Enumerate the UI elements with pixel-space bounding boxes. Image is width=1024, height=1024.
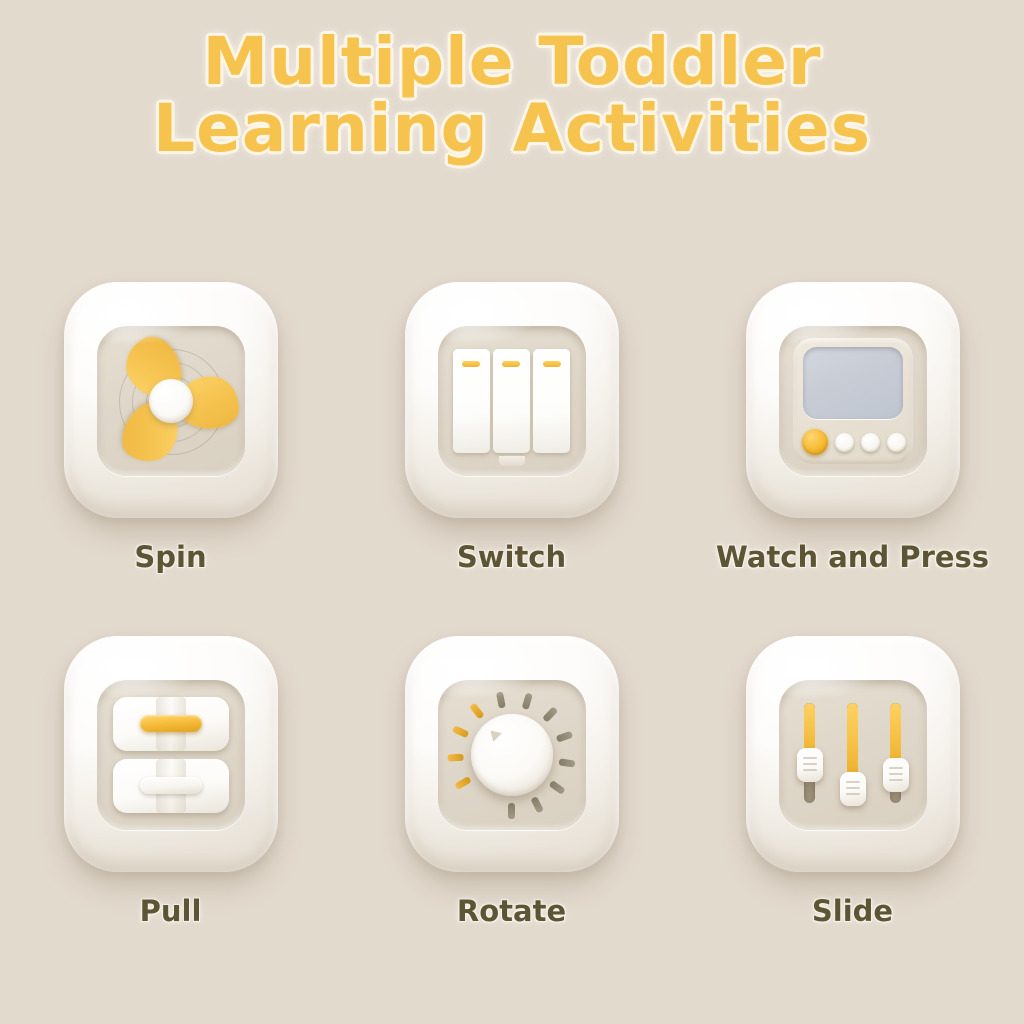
thumb-grip-line bbox=[889, 779, 903, 781]
device-body-switch[interactable] bbox=[405, 282, 619, 518]
slider-left[interactable] bbox=[797, 697, 823, 813]
card-caption: Watch and Press bbox=[716, 540, 989, 574]
tick-active-icon bbox=[452, 725, 469, 738]
rocker-switch[interactable] bbox=[533, 349, 570, 453]
tick-active-icon bbox=[447, 754, 463, 762]
device-body-sliders[interactable] bbox=[746, 636, 960, 872]
device-body-fan[interactable] bbox=[64, 282, 278, 518]
switch-indicator-icon bbox=[502, 361, 520, 367]
thumb-grip-line bbox=[889, 773, 903, 775]
pull-plate-bottom[interactable] bbox=[113, 759, 229, 813]
title-line-2: Learning Activities bbox=[0, 95, 1024, 162]
tick-inactive-icon bbox=[556, 731, 573, 743]
thumb-grip-line bbox=[803, 769, 817, 771]
slider-thumb[interactable] bbox=[840, 772, 866, 806]
switch-indicator-icon bbox=[462, 361, 480, 367]
thumb-grip-line bbox=[846, 793, 860, 795]
activity-card-pull[interactable]: Pull bbox=[0, 636, 341, 990]
card-caption: Pull bbox=[140, 894, 202, 928]
rotary-knob[interactable] bbox=[471, 714, 553, 796]
thumb-grip-line bbox=[803, 763, 817, 765]
page-title: Multiple Toddler Learning Activities bbox=[0, 28, 1024, 163]
slider-middle[interactable] bbox=[840, 697, 866, 813]
display-screen bbox=[803, 347, 903, 419]
card-caption: Rotate bbox=[457, 894, 566, 928]
tick-inactive-icon bbox=[522, 693, 533, 710]
thumb-grip-line bbox=[889, 767, 903, 769]
card-caption: Spin bbox=[134, 540, 206, 574]
switch-plate-nub bbox=[499, 456, 525, 466]
knob-pointer-icon bbox=[486, 726, 502, 742]
activity-grid: Spin Switch bbox=[0, 282, 1024, 990]
device-body-screen[interactable] bbox=[746, 282, 960, 518]
slider-thumb[interactable] bbox=[883, 758, 909, 792]
tick-inactive-icon bbox=[530, 796, 544, 813]
card-caption: Slide bbox=[812, 894, 893, 928]
button-row bbox=[802, 429, 906, 455]
recessed-panel bbox=[779, 326, 927, 476]
pull-stack bbox=[113, 697, 229, 813]
switch-plate bbox=[453, 349, 571, 453]
rocker-switch[interactable] bbox=[493, 349, 530, 453]
title-line-1: Multiple Toddler bbox=[0, 28, 1024, 95]
activity-card-switch[interactable]: Switch bbox=[341, 282, 682, 636]
recessed-panel bbox=[438, 680, 586, 830]
tick-inactive-icon bbox=[559, 758, 576, 767]
white-button-3[interactable] bbox=[887, 433, 906, 452]
big-amber-button[interactable] bbox=[802, 429, 828, 455]
activity-card-watch-and-press[interactable]: Watch and Press bbox=[682, 282, 1023, 636]
tick-active-icon bbox=[454, 776, 471, 790]
tick-inactive-icon bbox=[496, 691, 506, 708]
recessed-panel bbox=[97, 680, 245, 830]
rocker-switch[interactable] bbox=[453, 349, 490, 453]
tick-inactive-icon bbox=[542, 706, 558, 722]
screen-frame bbox=[793, 338, 913, 464]
white-button-1[interactable] bbox=[835, 433, 854, 452]
knob-assembly[interactable] bbox=[438, 680, 586, 830]
card-caption: Switch bbox=[457, 540, 566, 574]
tick-inactive-icon bbox=[549, 780, 566, 795]
recessed-panel bbox=[779, 680, 927, 830]
switch-indicator-icon bbox=[543, 361, 561, 367]
white-pull-handle[interactable] bbox=[140, 777, 202, 794]
tick-inactive-icon bbox=[508, 803, 515, 819]
activity-card-spin[interactable]: Spin bbox=[0, 282, 341, 636]
tick-active-icon bbox=[469, 703, 484, 720]
activity-card-rotate[interactable]: Rotate bbox=[341, 636, 682, 990]
white-button-2[interactable] bbox=[861, 433, 880, 452]
device-body-knob[interactable] bbox=[405, 636, 619, 872]
fan-icon[interactable] bbox=[97, 326, 245, 476]
recessed-panel bbox=[438, 326, 586, 476]
slider-right[interactable] bbox=[883, 697, 909, 813]
thumb-grip-line bbox=[846, 787, 860, 789]
amber-pull-handle[interactable] bbox=[140, 715, 202, 732]
thumb-grip-line bbox=[803, 757, 817, 759]
fan-hub-icon[interactable] bbox=[149, 379, 193, 423]
pull-plate-top[interactable] bbox=[113, 697, 229, 751]
slider-thumb[interactable] bbox=[797, 748, 823, 782]
slider-row bbox=[797, 697, 909, 813]
thumb-grip-line bbox=[846, 781, 860, 783]
recessed-panel bbox=[97, 326, 245, 476]
device-body-pull[interactable] bbox=[64, 636, 278, 872]
activity-card-slide[interactable]: Slide bbox=[682, 636, 1023, 990]
